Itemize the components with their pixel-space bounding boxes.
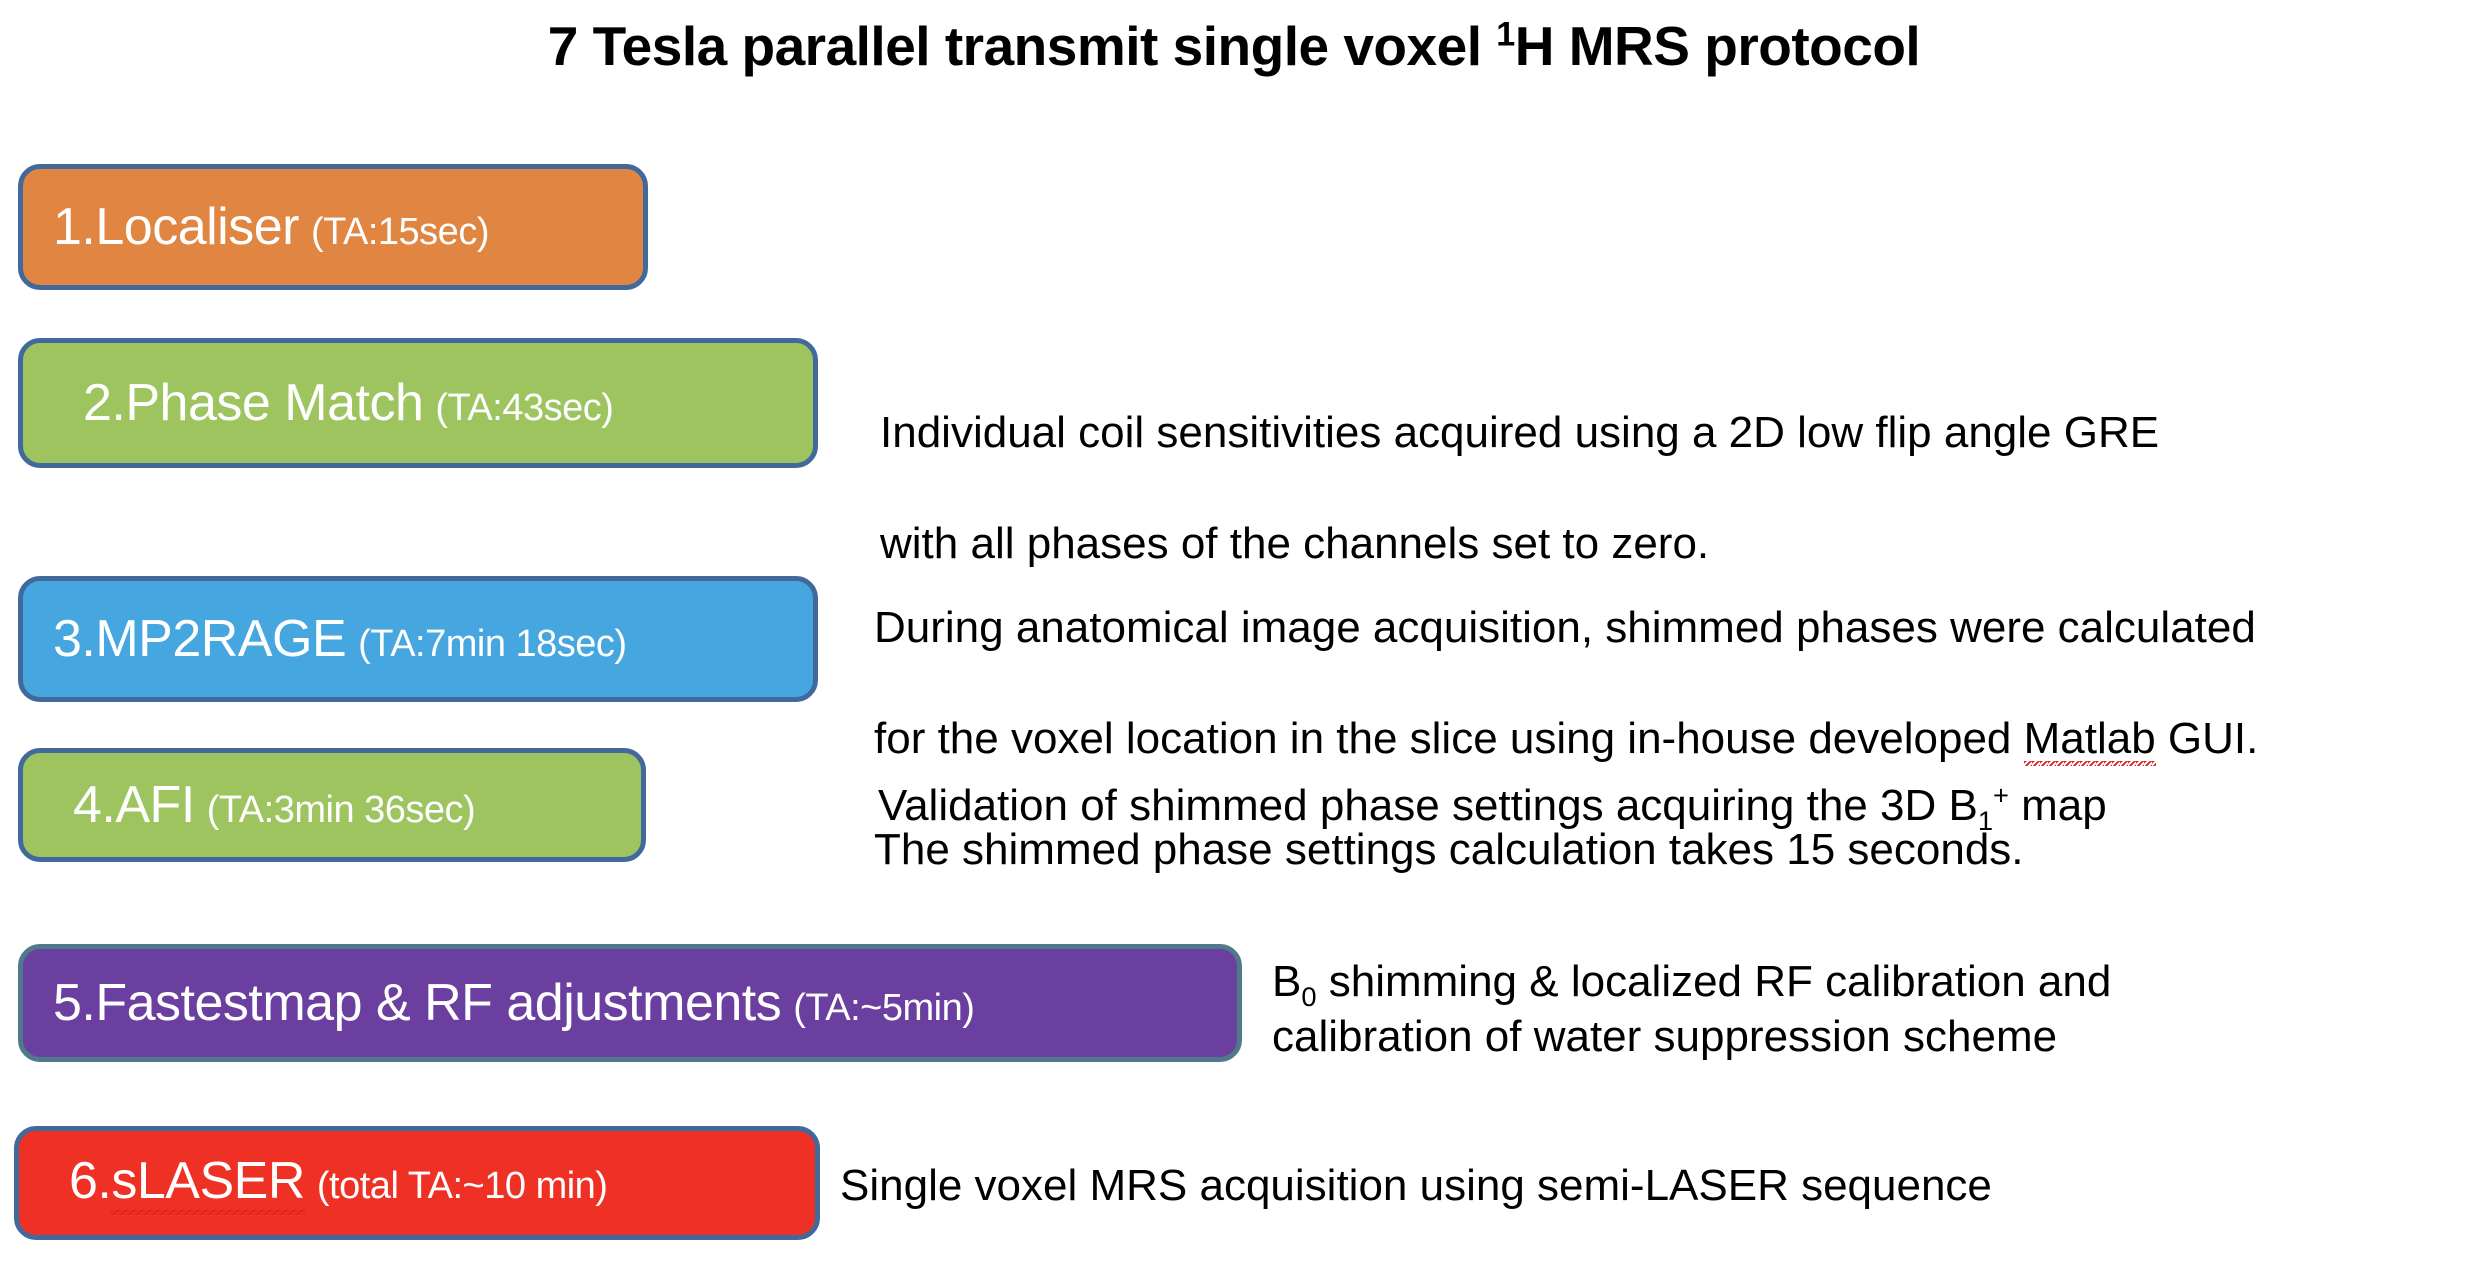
step-box-1-localiser[interactable]: 1.Localiser (TA:15sec) xyxy=(18,164,648,290)
step-6-acquisition-time: (total TA:~10 min) xyxy=(317,1165,608,1208)
step-4-label-group: 4.AFI (TA:3min 36sec) xyxy=(23,775,475,835)
step-5-label: 5.Fastestmap & RF adjustments xyxy=(53,973,781,1033)
step-4-acquisition-time: (TA:3min 36sec) xyxy=(207,789,475,832)
step-1-label-group: 1.Localiser (TA:15sec) xyxy=(23,197,489,257)
step-2-label: 2.Phase Match xyxy=(83,373,423,433)
step-2-description-line-1: Individual coil sensitivities acquired u… xyxy=(880,408,2159,457)
step-box-5-fastestmap-rf-adjustments[interactable]: 5.Fastestmap & RF adjustments (TA:~5min) xyxy=(18,944,1242,1062)
spellcheck-underlined-word-slaser: sLASER xyxy=(111,1151,305,1215)
step-box-2-phase-match[interactable]: 2.Phase Match (TA:43sec) xyxy=(18,338,818,468)
step-1-acquisition-time: (TA:15sec) xyxy=(311,211,489,254)
step-5-description-line-2: calibration of water suppression scheme xyxy=(1272,1012,2057,1061)
step-2-label-group: 2.Phase Match (TA:43sec) xyxy=(23,373,613,433)
step-4-label: 4.AFI xyxy=(73,775,195,835)
step-4-description-subscript: 1 xyxy=(1978,805,1993,836)
step-3-label: 3.MP2RAGE xyxy=(53,609,346,669)
page-title-suffix: H MRS protocol xyxy=(1515,15,1920,77)
step-3-acquisition-time: (TA:7min 18sec) xyxy=(358,623,626,666)
step-box-4-afi[interactable]: 4.AFI (TA:3min 36sec) xyxy=(18,748,646,862)
step-3-description-line-2-after: GUI. xyxy=(2156,714,2259,763)
page-title-prefix: 7 Tesla parallel transmit single voxel xyxy=(548,15,1497,77)
step-box-6-slaser[interactable]: 6. sLASER (total TA:~10 min) xyxy=(14,1126,820,1240)
page-title-superscript: 1 xyxy=(1496,16,1514,54)
step-6-label-prefix: 6. xyxy=(69,1151,111,1211)
step-3-label-group: 3.MP2RAGE (TA:7min 18sec) xyxy=(23,609,627,669)
step-box-3-mp2rage[interactable]: 3.MP2RAGE (TA:7min 18sec) xyxy=(18,576,818,702)
step-5-acquisition-time: (TA:~5min) xyxy=(793,987,974,1030)
step-6-description: Single voxel MRS acquisition using semi-… xyxy=(840,1158,2240,1213)
page-title: 7 Tesla parallel transmit single voxel 1… xyxy=(0,14,2468,78)
step-5-description-before: B xyxy=(1272,957,1301,1006)
step-2-description: Individual coil sensitivities acquired u… xyxy=(880,350,2440,572)
step-5-description-after: shimming & localized RF calibration and xyxy=(1317,957,2112,1006)
step-4-description-superscript: + xyxy=(1993,779,2009,810)
step-3-description-line-1: During anatomical image acquisition, shi… xyxy=(874,603,2256,652)
step-4-description-after: map xyxy=(2009,781,2107,830)
step-1-label: 1.Localiser xyxy=(53,197,299,257)
step-4-description-before: Validation of shimmed phase settings acq… xyxy=(878,781,1978,830)
step-3-description-line-2-before: for the voxel location in the slice usin… xyxy=(874,714,2024,763)
step-5-description-subscript: 0 xyxy=(1301,981,1316,1012)
step-6-label-group: 6. sLASER (total TA:~10 min) xyxy=(19,1151,607,1215)
step-5-description: B0 shimming & localized RF calibration a… xyxy=(1272,954,2452,1065)
spellcheck-underlined-word-matlab: Matlab xyxy=(2024,714,2156,766)
step-5-label-group: 5.Fastestmap & RF adjustments (TA:~5min) xyxy=(23,973,974,1033)
step-4-description: Validation of shimmed phase settings acq… xyxy=(878,778,2358,833)
step-2-acquisition-time: (TA:43sec) xyxy=(435,387,613,430)
